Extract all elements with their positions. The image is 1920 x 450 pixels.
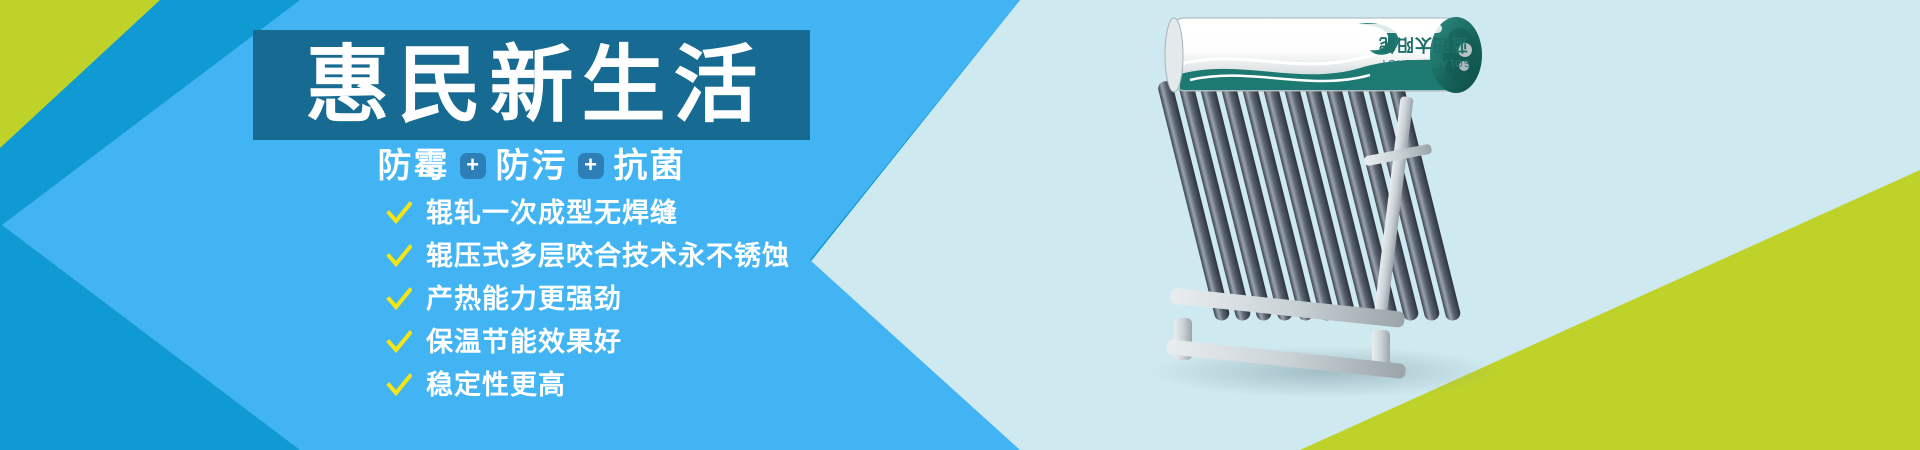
feature-list: 辊轧一次成型无焊缝 辊压式多层咬合技术永不锈蚀 产热能力更强劲 保温节能效果好 [386,196,790,402]
check-icon [386,329,412,355]
subtitle-row: 防霉 + 防污 + 抗菌 [253,143,810,189]
page-title: 惠民新生活 [297,43,765,127]
check-icon [386,286,412,312]
storage-tank [1165,17,1482,93]
plus-icon: + [460,153,486,179]
feature-label: 辊轧一次成型无焊缝 [426,200,678,227]
check-icon [386,243,412,269]
feature-label: 产热能力更强劲 [426,286,622,313]
feature-label: 辊压式多层咬合技术永不锈蚀 [426,243,790,270]
subtitle-word-3: 抗菌 [614,149,686,183]
list-item: 产热能力更强劲 [386,282,790,316]
list-item: 稳定性更高 [386,368,790,402]
check-icon [386,200,412,226]
check-icon [386,372,412,398]
list-item: 保温节能效果好 [386,325,790,359]
subtitle-word-1: 防霉 [378,149,450,183]
list-item: 辊压式多层咬合技术永不锈蚀 [386,239,790,273]
evacuated-tube-array [1157,80,1462,322]
subtitle-word-2: 防污 [496,149,568,183]
list-item: 辊轧一次成型无焊缝 [386,196,790,230]
tank-end-cap-left [1165,18,1183,92]
solar-water-heater-image [1150,0,1630,450]
plus-icon: + [578,153,604,179]
feature-label: 保温节能效果好 [426,329,622,356]
tank-port-fitting [1458,43,1472,57]
feature-label: 稳定性更高 [426,372,566,399]
title-banner-box: 惠民新生活 [253,30,810,140]
promo-banner: 惠民新生活 防霉 + 防污 + 抗菌 辊轧一次成型无焊缝 辊压式多层咬合技术永不… [0,0,1920,450]
